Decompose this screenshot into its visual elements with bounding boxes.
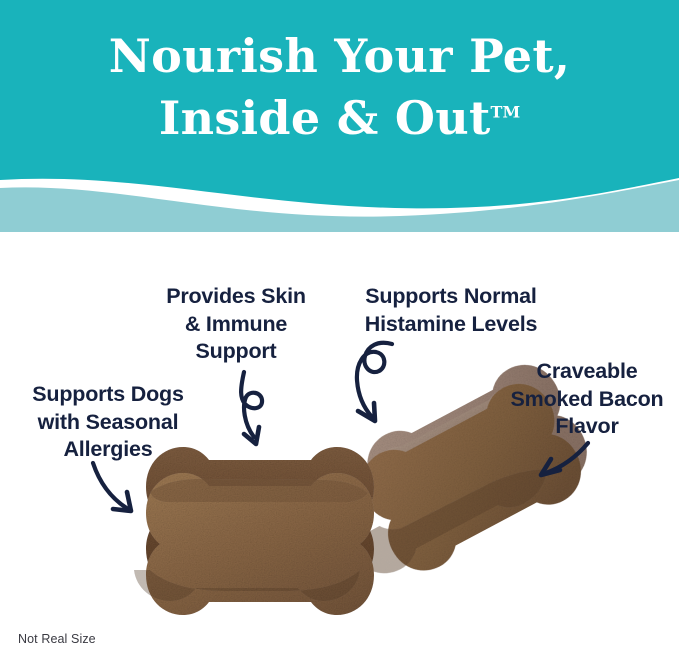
callout-allergies-line-2: with Seasonal (8, 409, 208, 437)
callout-allergies-line-3: Allergies (8, 436, 208, 464)
callout-flavor-line-2: Smoked Bacon (498, 386, 676, 414)
callout-histamine-line-2: Histamine Levels (348, 311, 554, 339)
callout-provides-skin-immune-support: Provides Skin & Immune Support (148, 283, 324, 366)
callout-skin-line-3: Support (148, 338, 324, 366)
banner-title-line-2-text: Inside & Out (159, 91, 491, 145)
callout-supports-normal-histamine-levels: Supports Normal Histamine Levels (348, 283, 554, 338)
callout-skin-line-1: Provides Skin (148, 283, 324, 311)
product-infographic: Nourish Your Pet, Inside & OutTM (0, 0, 679, 665)
banner-title-line-2: Inside & OutTM (0, 88, 679, 150)
callout-flavor-line-1: Craveable (498, 358, 676, 386)
callout-supports-dogs-allergies: Supports Dogs with Seasonal Allergies (8, 381, 208, 464)
trademark-symbol: TM (491, 102, 521, 121)
callout-histamine-line-1: Supports Normal (348, 283, 554, 311)
callout-skin-line-2: & Immune (148, 311, 324, 339)
banner-title-line-1: Nourish Your Pet, (0, 26, 679, 88)
callout-flavor-line-3: Flavor (498, 413, 676, 441)
footnote-not-real-size: Not Real Size (18, 632, 96, 646)
callout-allergies-line-1: Supports Dogs (8, 381, 208, 409)
banner-title: Nourish Your Pet, Inside & OutTM (0, 26, 679, 149)
treat-front (134, 447, 374, 615)
callout-craveable-smoked-bacon-flavor: Craveable Smoked Bacon Flavor (498, 358, 676, 441)
